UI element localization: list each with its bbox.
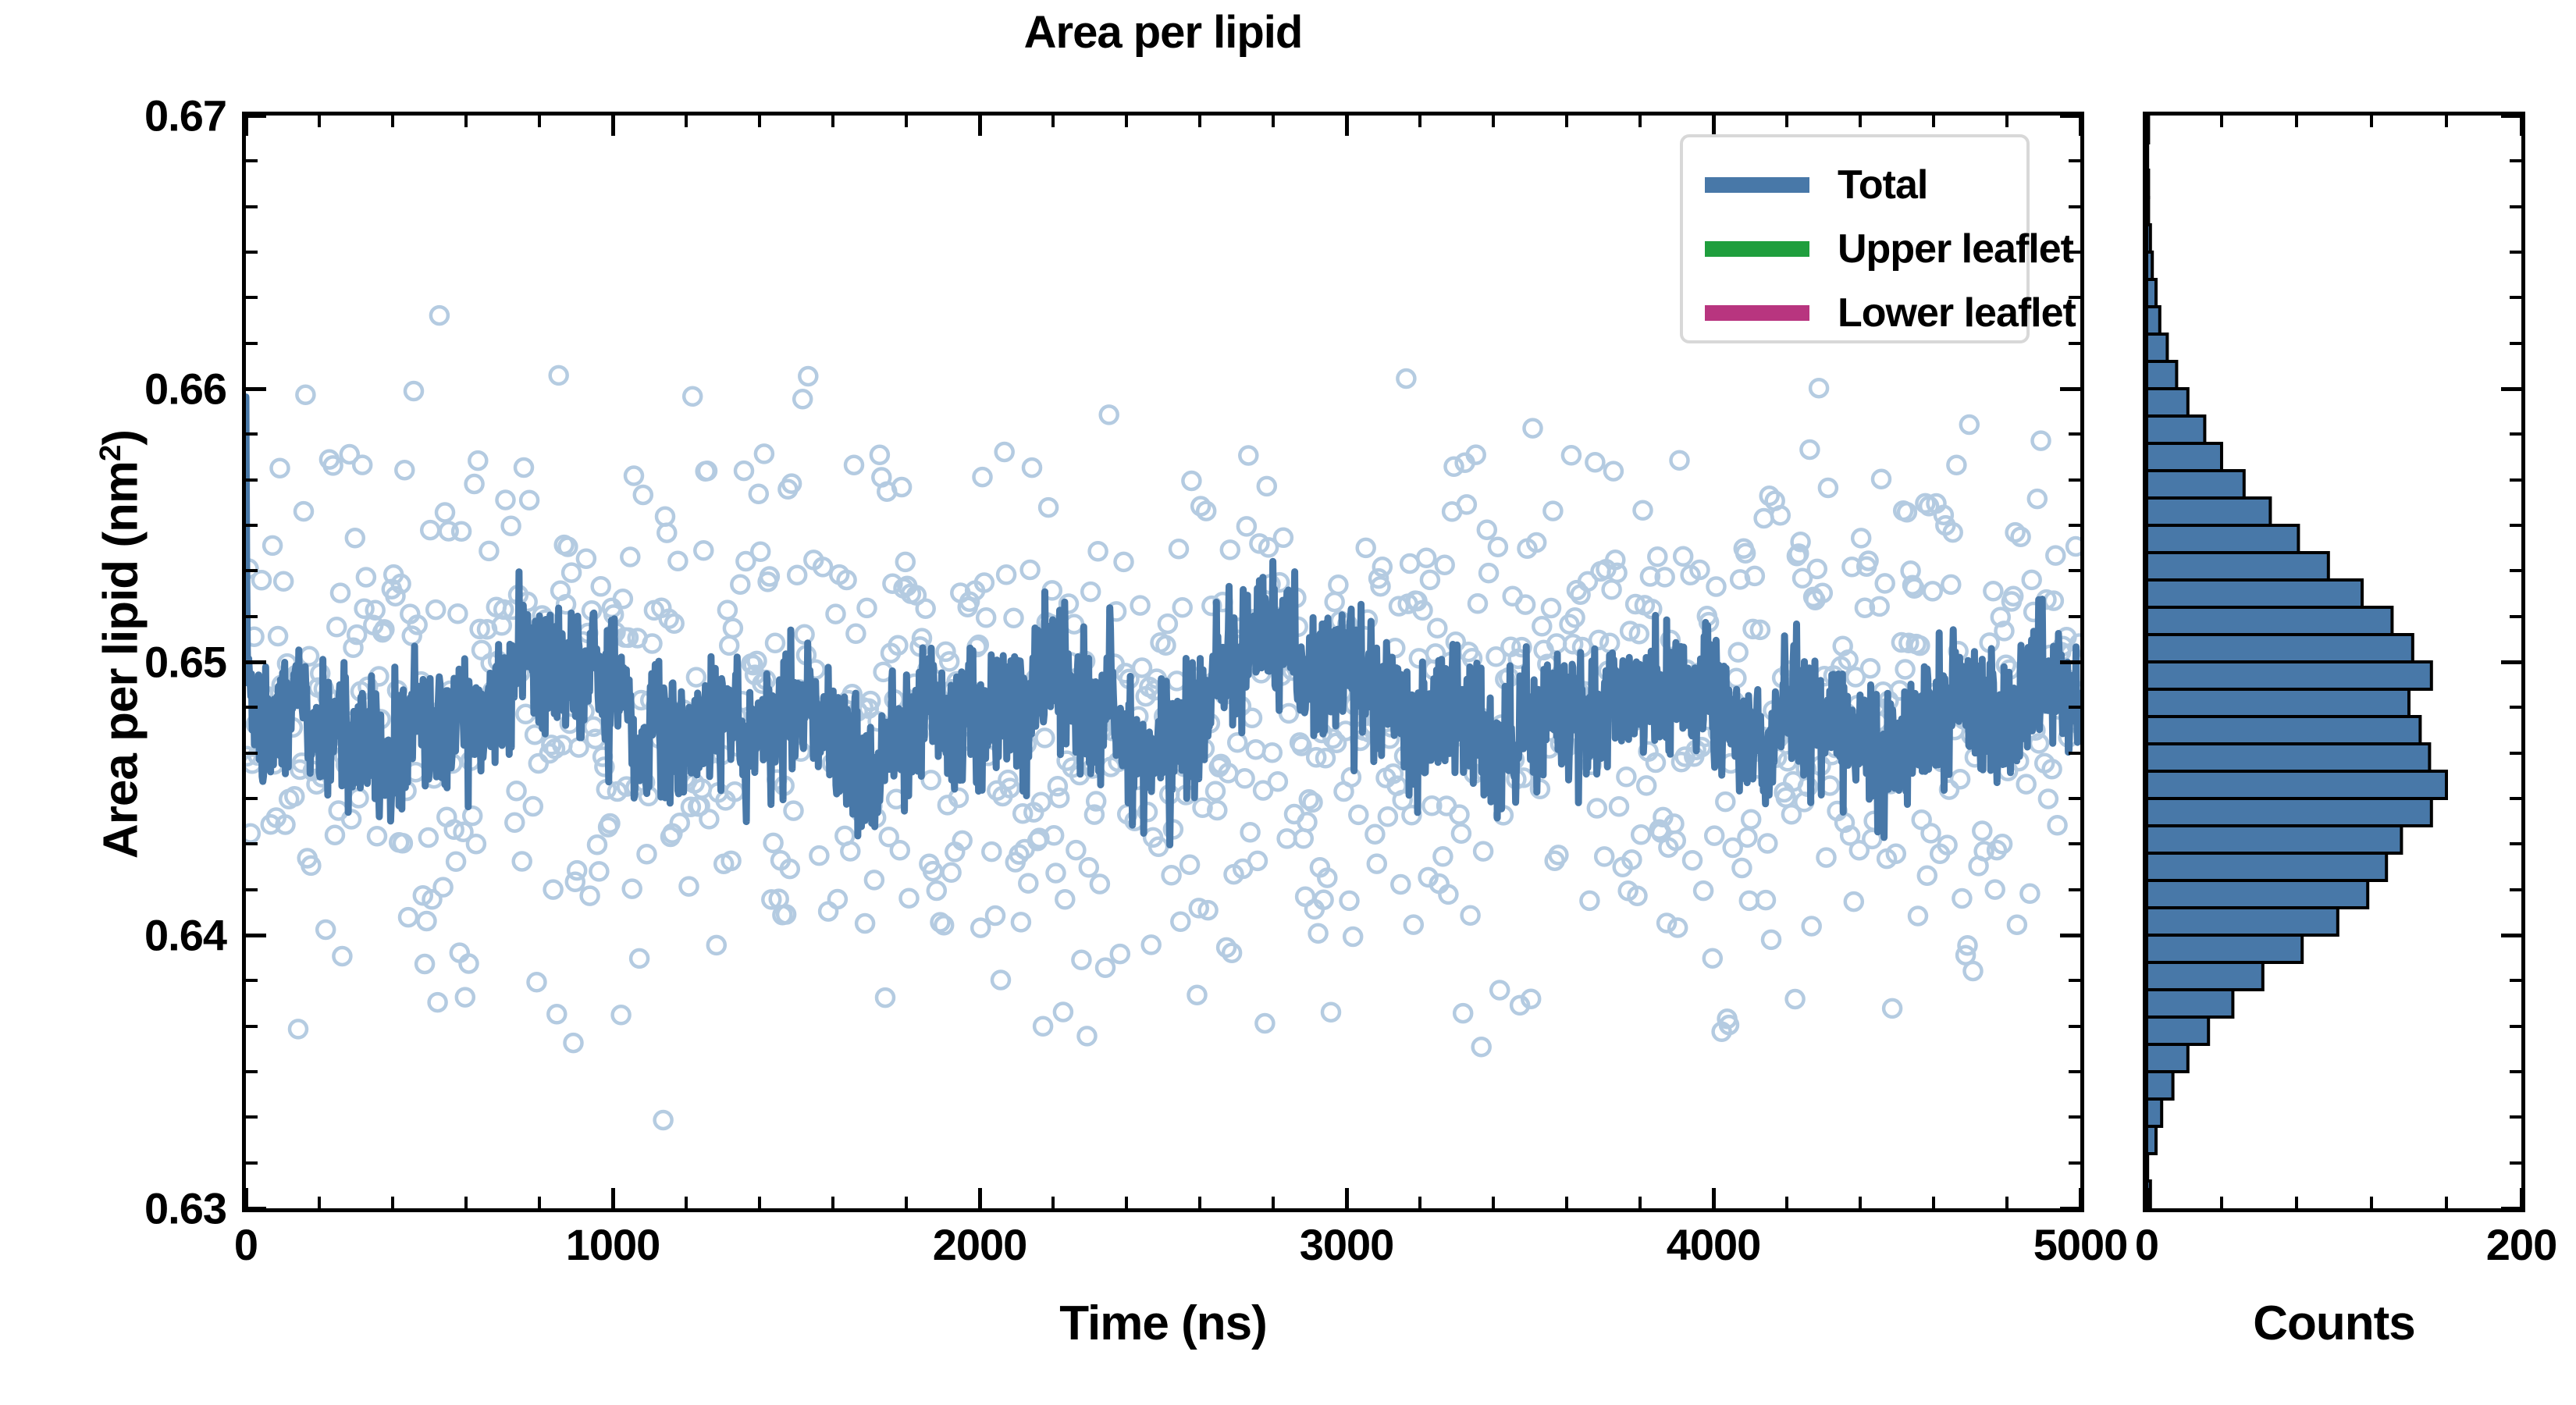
histogram-y-tick-minor [2510,296,2521,299]
x-tick-major [1345,1188,1349,1208]
y-tick-minor [246,296,258,299]
histogram-bar [2147,744,2429,771]
histogram-bar [2147,361,2176,389]
y-tick-major [246,934,266,937]
x-tick-label: 5000 [2033,1219,2128,1270]
histogram-bar [2147,1099,2161,1126]
page-title: Area per lipid [242,6,2084,59]
histogram-bar [2147,908,2338,935]
y-tick-major [2060,660,2080,664]
figure-canvas: Area per lipid 010002000300040005000 0.6… [0,0,2576,1405]
histogram-y-tick-minor [2510,1115,2521,1119]
y-tick-minor [246,797,258,800]
y-tick-minor [246,752,258,755]
histogram-y-tick-minor [2510,842,2521,845]
histogram-bar [2147,853,2386,880]
y-tick-minor [246,432,258,436]
legend-item-label: Upper leaflet [1838,226,2073,272]
histogram-y-tick-minor [2510,706,2521,709]
histogram-x-tick-minor [2445,116,2448,127]
y-tick-major [246,660,266,664]
histogram-bar [2147,471,2244,498]
histogram-bar [2147,498,2270,525]
y-tick-major [2060,114,2080,118]
histogram-bar [2147,826,2401,853]
y-tick-minor [2069,1161,2080,1165]
x-tick-minor-top [391,116,394,127]
histogram-x-tick-major [2520,116,2524,136]
histogram-y-tick-minor [2510,1025,2521,1028]
x-tick-minor [2005,1197,2008,1208]
x-tick-minor [1932,1197,1935,1208]
histogram-y-tick-minor [2510,888,2521,891]
x-tick-minor [1125,1197,1128,1208]
y-tick-minor [246,979,258,982]
y-tick-minor [246,1115,258,1119]
x-tick-major-top [1712,116,1716,136]
x-tick-major-top [611,116,615,136]
histogram-x-tick-minor [2295,1197,2298,1208]
legend-item-lower-leaflet[interactable]: Lower leaflet [1683,281,2026,345]
histogram-x-tick-minor [2220,1197,2223,1208]
x-tick-minor [1859,1197,1862,1208]
histogram-bar [2147,689,2409,717]
legend-item-label: Total [1838,162,1927,208]
y-axis-label-tail: ) [94,430,148,446]
y-tick-minor [246,615,258,618]
x-tick-minor-top [1785,116,1788,127]
histogram-x-tick-label: 200 [2486,1219,2556,1270]
y-tick-minor [2069,752,2080,755]
histogram-y-tick-minor [2510,478,2521,482]
x-tick-minor-top [905,116,908,127]
x-tick-minor [831,1197,834,1208]
x-tick-minor-top [1932,116,1935,127]
x-tick-minor-top [1859,116,1862,127]
x-tick-minor [1272,1197,1275,1208]
y-tick-minor [2069,524,2080,527]
x-tick-minor-top [1638,116,1642,127]
x-tick-minor [318,1197,321,1208]
y-tick-minor [246,1161,258,1165]
y-tick-minor [2069,706,2080,709]
y-axis-label-text: Area per lipid (nm [94,461,148,859]
x-tick-major-top [2079,116,2083,136]
x-tick-major [244,1188,248,1208]
histogram-bar [2147,1126,2156,1154]
x-tick-minor-top [1418,116,1421,127]
y-tick-minor [2069,1070,2080,1073]
x-tick-minor-top [831,116,834,127]
y-tick-minor [246,342,258,345]
histogram-bar-group [2147,116,2446,1208]
y-tick-minor [2069,842,2080,845]
x-tick-label: 4000 [1667,1219,1761,1270]
x-tick-minor-top [1198,116,1201,127]
histogram-y-tick-major [2501,387,2521,391]
legend-item-upper-leaflet[interactable]: Upper leaflet [1683,217,2026,281]
histogram-y-tick-major [2501,934,2521,937]
histogram-bar [2147,635,2413,662]
histogram-bar [2147,252,2152,279]
x-tick-minor-top [685,116,688,127]
histogram-bar [2147,225,2151,252]
x-tick-minor-top [1051,116,1055,127]
legend-item-label: Lower leaflet [1838,290,2076,336]
y-tick-minor [2069,569,2080,572]
x-tick-major [978,1188,982,1208]
histogram-x-tick-major [2520,1188,2524,1208]
y-tick-minor [246,842,258,845]
histogram-y-tick-minor [2510,752,2521,755]
x-tick-major [611,1188,615,1208]
x-tick-minor-top [538,116,541,127]
y-tick-minor [2069,797,2080,800]
histogram-y-tick-minor [2510,159,2521,162]
y-tick-minor [2069,888,2080,891]
x-tick-label: 0 [234,1219,258,1270]
histogram-bar [2147,662,2432,689]
x-tick-minor [391,1197,394,1208]
y-tick-minor [246,524,258,527]
y-tick-minor [246,1070,258,1073]
histogram-bar [2147,880,2368,908]
histogram-bar [2147,197,2148,225]
histogram-y-tick-major [2501,114,2521,118]
x-tick-major [2079,1188,2083,1208]
histogram-bar [2147,990,2233,1017]
histogram-x-tick-major [2145,116,2149,136]
histogram-x-axis-label: Counts [2143,1296,2525,1351]
histogram-bar [2147,307,2160,334]
y-tick-major [2060,934,2080,937]
y-tick-minor [246,706,258,709]
x-tick-label: 1000 [566,1219,660,1270]
y-axis-label-exponent: 2 [94,446,127,461]
y-tick-minor [246,251,258,254]
x-tick-minor [464,1197,468,1208]
y-tick-minor [246,478,258,482]
histogram-x-tick-minor [2220,116,2223,127]
histogram-bar [2147,389,2188,416]
histogram-bar [2147,416,2204,443]
y-tick-minor [2069,1115,2080,1119]
y-tick-minor [2069,342,2080,345]
histogram-x-tick-minor [2370,1197,2373,1208]
histogram-bar [2147,443,2222,471]
x-tick-label: 2000 [933,1219,1027,1270]
legend-swatch-line-icon [1705,305,1809,321]
x-tick-minor-top [1125,116,1128,127]
x-tick-minor [1785,1197,1788,1208]
x-tick-minor-top [1492,116,1495,127]
x-tick-minor [1638,1197,1642,1208]
histogram-y-tick-minor [2510,342,2521,345]
x-tick-minor [685,1197,688,1208]
histogram-bar [2147,279,2156,307]
histogram-bar [2147,1044,2188,1072]
x-tick-major-top [1345,116,1349,136]
x-tick-minor [758,1197,761,1208]
y-tick-minor [2069,1025,2080,1028]
y-tick-minor [2069,205,2080,208]
histogram-y-tick-minor [2510,524,2521,527]
histogram-y-tick-minor [2510,569,2521,572]
histogram-bar [2147,1017,2208,1044]
y-tick-minor [2069,478,2080,482]
y-tick-minor [2069,432,2080,436]
histogram-x-tick-major [2145,1188,2149,1208]
histogram-axes [2143,112,2525,1212]
histogram-y-tick-minor [2510,432,2521,436]
histogram-bar [2147,799,2432,826]
x-tick-major-top [244,116,248,136]
histogram-bar [2147,334,2167,361]
x-tick-minor-top [1565,116,1568,127]
histogram-bar [2147,553,2329,580]
histogram-bar [2147,1072,2173,1099]
histogram-bar [2147,717,2420,744]
histogram-bar [2147,962,2263,990]
histogram-y-tick-minor [2510,1070,2521,1073]
histogram-y-tick-major [2501,660,2521,664]
histogram-bar [2147,771,2446,799]
histogram-y-tick-minor [2510,979,2521,982]
x-tick-minor [1492,1197,1495,1208]
y-tick-minor [246,569,258,572]
y-tick-major [246,1207,266,1211]
x-tick-minor-top [1272,116,1275,127]
x-tick-minor [1198,1197,1201,1208]
main-y-axis-label: Area per lipid (nm2) [94,79,149,1211]
histogram-bar [2147,143,2147,170]
histogram-y-tick-minor [2510,1161,2521,1165]
x-tick-major [1712,1188,1716,1208]
legend-swatch-line-icon [1705,241,1809,257]
chart-legend[interactable]: TotalUpper leafletLower leaflet [1680,134,2030,343]
histogram-x-tick-minor [2370,116,2373,127]
x-tick-minor-top [758,116,761,127]
legend-swatch-line-icon [1705,177,1809,193]
histogram-x-tick-minor [2445,1197,2448,1208]
y-tick-minor [246,205,258,208]
y-tick-minor [2069,159,2080,162]
histogram-bar [2147,935,2302,962]
y-tick-minor [246,888,258,891]
x-tick-minor-top [2005,116,2008,127]
histogram-y-tick-minor [2510,797,2521,800]
y-tick-minor [2069,979,2080,982]
x-tick-minor-top [464,116,468,127]
x-tick-label: 3000 [1300,1219,1394,1270]
y-tick-minor [2069,615,2080,618]
legend-item-total[interactable]: Total [1683,153,2026,217]
x-tick-minor-top [318,116,321,127]
histogram-y-tick-major [2501,1207,2521,1211]
y-tick-major [2060,1207,2080,1211]
histogram-bar [2147,170,2148,197]
y-tick-minor [246,1025,258,1028]
y-tick-major [246,114,266,118]
x-tick-minor [538,1197,541,1208]
histogram-y-tick-minor [2510,205,2521,208]
histogram-data-layer [2147,116,2521,1208]
histogram-y-tick-minor [2510,615,2521,618]
main-x-axis-label: Time (ns) [242,1296,2084,1351]
histogram-bar [2147,580,2362,607]
y-tick-major [2060,387,2080,391]
histogram-bar [2147,607,2392,635]
histogram-x-tick-minor [2295,116,2298,127]
total-running-mean-line [246,397,2080,845]
x-tick-minor [1565,1197,1568,1208]
y-tick-major [246,387,266,391]
histogram-y-tick-minor [2510,251,2521,254]
histogram-x-tick-label: 0 [2135,1219,2158,1270]
histogram-bar [2147,1154,2147,1181]
x-tick-minor [1051,1197,1055,1208]
x-tick-minor [905,1197,908,1208]
x-tick-minor [1418,1197,1421,1208]
histogram-bar [2147,525,2298,553]
x-tick-major-top [978,116,982,136]
y-tick-minor [246,159,258,162]
